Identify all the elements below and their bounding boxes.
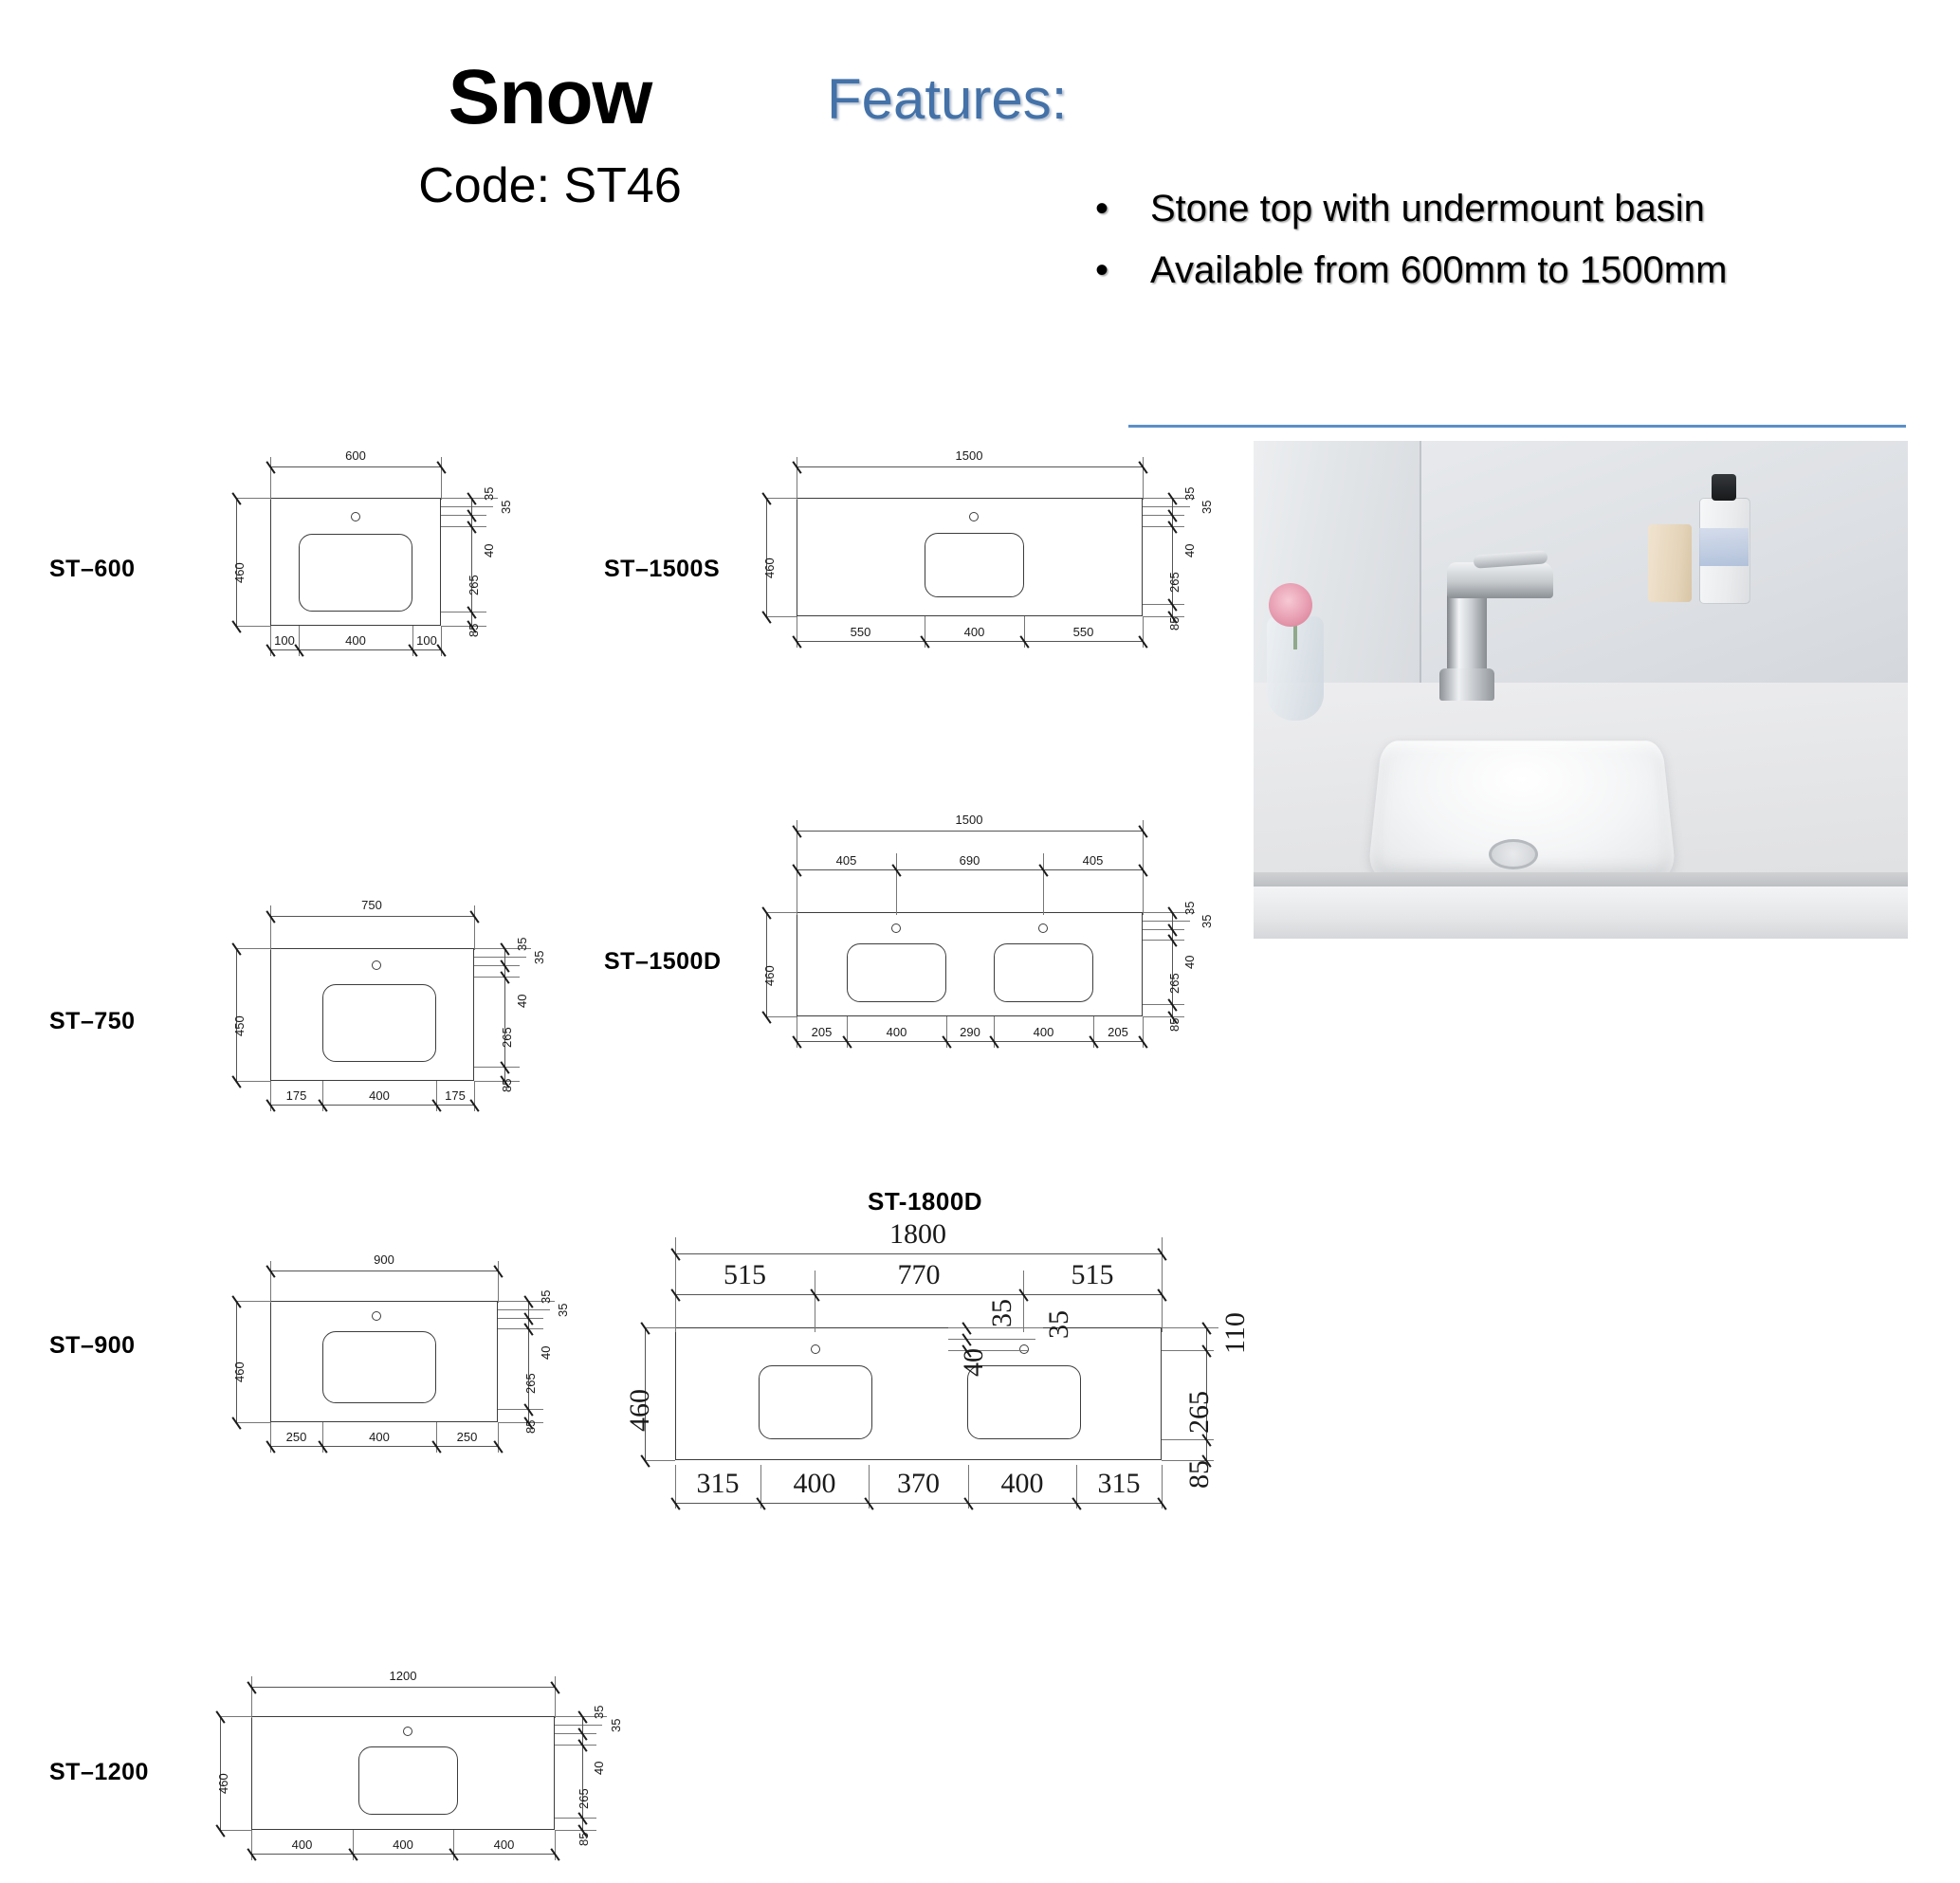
dim-right-3-st1800d: 40: [958, 1348, 990, 1377]
page-title: Snow: [284, 59, 815, 137]
ext-line: [555, 1725, 602, 1726]
dim-line-height-st1500d: [766, 912, 767, 1016]
product-code: Code: ST46: [284, 161, 815, 210]
dim-width-st900: 900: [346, 1252, 422, 1267]
drawing-label-st1800d: ST-1800D: [868, 1187, 982, 1216]
dim-line-width-st750: [270, 916, 474, 917]
dim-right-2-st1800d: 35: [1043, 1310, 1075, 1339]
dim-line-top-chain-st1800d: [675, 1294, 1162, 1295]
feature-item: •Available from 600mm to 1500mm: [1095, 251, 1727, 289]
dim-right-4-st1200: 265: [577, 1788, 591, 1809]
dim-right-2-st1500d: 35: [1200, 915, 1214, 928]
dim-bottom-1-st1500d: 205: [797, 1025, 847, 1039]
dim-right-2-st600: 35: [499, 501, 513, 514]
dim-bottom-2-st750: 400: [322, 1088, 436, 1103]
dim-right-3-st900: 40: [539, 1346, 553, 1360]
dim-right-1-st750: 35: [515, 938, 529, 951]
dim-right-3-st600: 40: [482, 544, 496, 558]
ext-line: [645, 1460, 675, 1461]
ext-line: [498, 1309, 550, 1310]
basin-cutout-st600: [299, 534, 412, 612]
ext-line: [555, 1830, 596, 1831]
slab-outline-st1800d: [675, 1327, 1162, 1460]
dim-line-bottom-st1500s: [797, 641, 1143, 642]
tap-hole-st1500s: [969, 512, 979, 521]
dim-line-bottom-st900: [270, 1446, 498, 1447]
dim-bottom-2-st1800d: 400: [760, 1468, 869, 1500]
dim-bottom-3-st750: 175: [436, 1088, 474, 1103]
tap-hole-right-st1500d: [1038, 923, 1048, 933]
drawing-label-st1500d: ST–1500D: [604, 948, 722, 976]
ext-line: [1143, 940, 1184, 941]
dim-right-1-st1200: 35: [592, 1706, 606, 1719]
ext-line: [1143, 457, 1144, 500]
dim-right-5-st1200: 85: [577, 1833, 591, 1846]
ext-line: [645, 1327, 675, 1328]
dim-right-5-st1500s: 85: [1167, 617, 1181, 631]
ext-line: [474, 965, 520, 966]
dim-right-3-st1500s: 40: [1182, 544, 1197, 558]
features-heading: Features:: [827, 71, 1067, 128]
dim-height-st900: 460: [232, 1362, 247, 1382]
ext-line: [1143, 526, 1184, 527]
ext-line: [1143, 506, 1190, 507]
ext-line: [766, 1016, 797, 1017]
bullet-icon: •: [1095, 251, 1150, 289]
dim-bottom-2-st600: 400: [299, 633, 412, 648]
dim-height-st750: 450: [232, 1015, 247, 1036]
dim-right-4-st1500s: 265: [1167, 572, 1181, 593]
dim-right-1-st1500d: 35: [1182, 902, 1197, 915]
dim-right-4-st750: 265: [500, 1027, 514, 1048]
ext-line: [555, 1818, 596, 1819]
basin-cutout-st900: [322, 1331, 436, 1403]
dim-top-1-st1500d: 405: [797, 853, 896, 868]
dim-height-st1800d: 460: [624, 1389, 656, 1432]
faucet-spout: [1447, 562, 1553, 598]
ext-line: [1143, 515, 1184, 516]
feature-item: •Stone top with undermount basin: [1095, 190, 1705, 228]
dim-right-1-st600: 35: [482, 487, 496, 501]
ext-line: [441, 457, 442, 500]
dim-bottom-3-st1800d: 370: [869, 1468, 968, 1500]
ext-line: [498, 1261, 499, 1303]
ext-line: [1162, 1327, 1218, 1328]
dim-width-st1500d: 1500: [931, 813, 1007, 827]
dim-bottom-4-st1800d: 400: [968, 1468, 1076, 1500]
basin-cutout-right-st1500d: [994, 943, 1093, 1002]
dim-height-st1500s: 460: [762, 558, 777, 578]
feature-label: Available from 600mm to 1500mm: [1150, 249, 1727, 291]
dim-right-5-st1800d: 265: [1183, 1391, 1216, 1434]
ext-line: [1143, 921, 1190, 922]
dim-right-2-st900: 35: [556, 1304, 570, 1317]
dim-top-2-st1800d: 770: [815, 1259, 1023, 1291]
dim-line-bottom-st1800d: [675, 1503, 1162, 1504]
ext-line: [948, 1339, 1035, 1340]
ext-line: [441, 506, 493, 507]
ext-line: [441, 526, 486, 527]
ext-line: [555, 1745, 596, 1746]
dim-line-bottom-st750: [270, 1105, 474, 1106]
dim-bottom-1-st1800d: 315: [675, 1468, 760, 1500]
dim-width-st750: 750: [334, 898, 410, 912]
ext-line: [474, 1067, 520, 1068]
ext-line: [1143, 1004, 1184, 1005]
ext-line: [766, 616, 797, 617]
ext-line: [1143, 929, 1184, 930]
dim-bottom-1-st900: 250: [270, 1430, 322, 1444]
ext-line: [251, 1676, 252, 1718]
basin-cutout-left-st1800d: [759, 1365, 872, 1439]
ext-line: [236, 948, 270, 949]
drawing-label-st600: ST–600: [49, 556, 136, 583]
ext-line: [236, 626, 270, 627]
drawing-label-st1200: ST–1200: [49, 1759, 149, 1786]
tap-hole-left-st1800d: [811, 1344, 820, 1354]
dim-line-width-st1200: [251, 1687, 555, 1688]
basin-drain-icon: [1489, 839, 1538, 869]
dim-bottom-5-st1800d: 315: [1076, 1468, 1162, 1500]
dim-line-width-st1500d: [797, 831, 1143, 832]
dim-bottom-5-st1500d: 205: [1093, 1025, 1143, 1039]
basin-cutout-st750: [322, 984, 436, 1062]
ext-line: [474, 905, 475, 950]
dim-bottom-3-st1200: 400: [453, 1837, 555, 1852]
dim-right-2-st750: 35: [532, 951, 546, 964]
ext-line: [220, 1830, 251, 1831]
dim-top-3-st1800d: 515: [1023, 1259, 1162, 1291]
ext-line: [555, 1676, 556, 1718]
drawing-label-st900: ST–900: [49, 1332, 136, 1360]
faucet-base: [1439, 668, 1494, 701]
ext-line: [220, 1716, 251, 1717]
vanity-cabinet: [1254, 887, 1908, 939]
drawing-label-st1500s: ST–1500S: [604, 556, 720, 583]
dim-bottom-2-st1500s: 400: [925, 625, 1024, 639]
dim-bottom-2-st1200: 400: [353, 1837, 453, 1852]
dim-right-2-st1200: 35: [609, 1719, 623, 1732]
dim-line-width-st1500s: [797, 466, 1143, 467]
dim-top-1-st1800d: 515: [675, 1259, 815, 1291]
dim-right-4-st1800d: 110: [1219, 1312, 1252, 1354]
dim-height-st1500d: 460: [762, 965, 777, 986]
ext-line: [236, 498, 270, 499]
dim-right-4-st900: 265: [523, 1373, 538, 1394]
dim-bottom-3-st900: 250: [436, 1430, 498, 1444]
dim-bottom-2-st900: 400: [322, 1430, 436, 1444]
dim-line-bottom-st1200: [251, 1854, 555, 1855]
dim-right-3-st1500d: 40: [1182, 956, 1197, 969]
ext-line: [270, 457, 271, 500]
ext-line: [441, 612, 486, 612]
dim-top-2-st1500d: 690: [896, 853, 1043, 868]
dim-width-st600: 600: [318, 448, 394, 463]
ext-line: [498, 1318, 543, 1319]
tap-hole-st750: [372, 960, 381, 970]
dim-bottom-1-st750: 175: [270, 1088, 322, 1103]
dim-width-st1200: 1200: [365, 1669, 441, 1683]
ext-line: [236, 1422, 270, 1423]
ext-line: [766, 498, 797, 499]
dim-bottom-1-st1500s: 550: [797, 625, 925, 639]
dim-bottom-1-st1200: 400: [251, 1837, 353, 1852]
ext-line: [797, 457, 797, 500]
amenity-bottle-cap: [1712, 474, 1736, 501]
dim-bottom-3-st1500s: 550: [1024, 625, 1143, 639]
basin-cutout-st1500s: [925, 533, 1024, 597]
ext-line: [1143, 604, 1184, 605]
ext-line: [441, 515, 486, 516]
feature-label: Stone top with undermount basin: [1150, 188, 1705, 229]
dim-right-5-st600: 85: [467, 624, 481, 637]
tap-hole-st1200: [403, 1727, 412, 1736]
bullet-icon: •: [1095, 190, 1150, 228]
drawing-label-st750: ST–750: [49, 1008, 136, 1035]
dim-right-4-st600: 265: [467, 575, 481, 595]
dim-right-3-st1200: 40: [592, 1762, 606, 1775]
tap-hole-right-st1800d: [1019, 1344, 1029, 1354]
ext-line: [474, 957, 526, 958]
dim-bottom-3-st1500d: 290: [946, 1025, 994, 1039]
dim-right-5-st900: 85: [523, 1420, 538, 1434]
basin-cutout-st1200: [358, 1746, 458, 1815]
ext-line: [948, 1327, 1043, 1328]
ext-line: [498, 1409, 543, 1410]
dim-right-1-st1500s: 35: [1182, 487, 1197, 501]
ext-line: [474, 977, 520, 978]
dim-bottom-3-st600: 100: [412, 633, 441, 648]
dim-line-bottom-st600: [270, 649, 441, 650]
divider-rule: [1128, 425, 1906, 428]
dim-right-5-st1500d: 85: [1167, 1018, 1181, 1032]
ext-line: [498, 1328, 543, 1329]
dim-right-4-st1500d: 265: [1167, 973, 1181, 994]
dim-width-st1500s: 1500: [931, 448, 1007, 463]
dim-height-st600: 460: [232, 562, 247, 583]
ext-line: [555, 1733, 596, 1734]
tap-hole-st900: [372, 1311, 381, 1321]
basin-cutout-left-st1500d: [847, 943, 946, 1002]
dim-bottom-4-st1500d: 400: [994, 1025, 1093, 1039]
ext-line: [270, 905, 271, 950]
dim-right-5-st750: 85: [500, 1079, 514, 1092]
tap-hole-left-st1500d: [891, 923, 901, 933]
amenity-bottle-label: [1699, 528, 1749, 566]
dim-line-width-st600: [270, 466, 441, 467]
dim-right-6-st1800d: 85: [1183, 1460, 1216, 1489]
dim-line-width-st900: [270, 1271, 498, 1271]
ext-line: [236, 1301, 270, 1302]
dim-line-top-chain-st1500d: [797, 869, 1143, 870]
dim-right-3-st750: 40: [515, 995, 529, 1008]
dim-line-height-st750: [236, 948, 237, 1081]
tap-hole-st600: [351, 512, 360, 521]
ext-line: [766, 912, 797, 913]
ext-line: [236, 1081, 270, 1082]
flower-bloom: [1269, 583, 1312, 627]
dim-bottom-2-st1500d: 400: [847, 1025, 946, 1039]
amenity-bottle-secondary: [1648, 524, 1692, 602]
dim-right-1-st1800d: 35: [986, 1299, 1018, 1327]
dim-top-3-st1500d: 405: [1043, 853, 1143, 868]
dim-height-st1200: 460: [216, 1773, 230, 1794]
dim-bottom-1-st600: 100: [270, 633, 299, 648]
ext-line: [270, 1261, 271, 1303]
dim-width-st1800d: 1800: [852, 1218, 984, 1251]
dim-right-2-st1500s: 35: [1200, 501, 1214, 514]
dim-right-1-st900: 35: [539, 1290, 553, 1304]
dim-line-width-st1800d: [675, 1253, 1162, 1254]
product-photo: [1254, 441, 1908, 939]
